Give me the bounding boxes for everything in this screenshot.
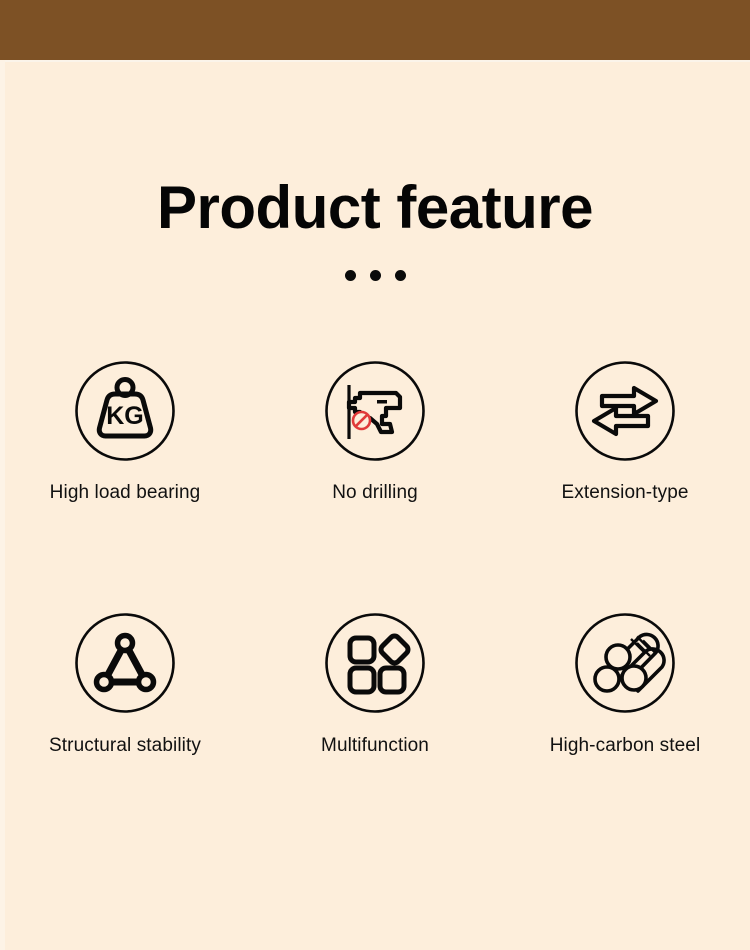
band-seam-line bbox=[0, 60, 750, 62]
feature-item-structural-stability: Structural stability bbox=[0, 612, 250, 757]
divider-dots bbox=[0, 270, 750, 281]
feature-item-multifunction: Multifunction bbox=[250, 612, 500, 757]
feature-item-high-carbon-steel: High-carbon steel bbox=[500, 612, 750, 757]
product-feature-page: Product feature KG High load bearing bbox=[0, 0, 750, 950]
feature-grid: KG High load bearing No drilling bbox=[0, 360, 750, 757]
divider-dot bbox=[395, 270, 406, 281]
divider-dot bbox=[345, 270, 356, 281]
feature-item-no-drilling: No drilling bbox=[250, 360, 500, 504]
page-title: Product feature bbox=[0, 178, 750, 238]
feature-label: Structural stability bbox=[49, 735, 201, 757]
feature-label: Extension-type bbox=[561, 482, 688, 504]
triangle-node-icon bbox=[74, 612, 176, 714]
feature-label: High load bearing bbox=[50, 482, 201, 504]
four-shapes-icon bbox=[324, 612, 426, 714]
top-brown-band bbox=[0, 0, 750, 60]
no-drilling-icon bbox=[324, 360, 426, 462]
feature-row-1: KG High load bearing No drilling bbox=[0, 360, 750, 504]
divider-dot bbox=[370, 270, 381, 281]
feature-row-2: Structural stability Multifunction bbox=[0, 612, 750, 757]
weight-icon-text: KG bbox=[106, 402, 144, 430]
feature-item-extension-type: Extension-type bbox=[500, 360, 750, 504]
feature-item-high-load-bearing: KG High load bearing bbox=[0, 360, 250, 504]
feature-label: Multifunction bbox=[321, 735, 429, 757]
two-way-arrow-icon bbox=[574, 360, 676, 462]
weight-kg-icon: KG bbox=[74, 360, 176, 462]
diamond-shape bbox=[379, 634, 410, 665]
feature-label: High-carbon steel bbox=[550, 735, 701, 757]
feature-label: No drilling bbox=[332, 482, 418, 504]
steel-bars-icon bbox=[574, 612, 676, 714]
